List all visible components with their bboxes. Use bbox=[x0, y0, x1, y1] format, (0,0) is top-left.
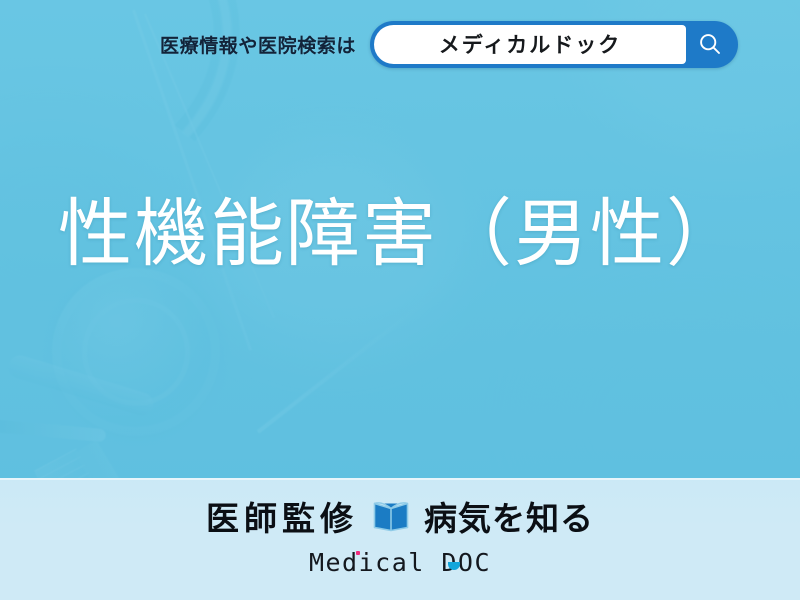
disease-word: 病気 bbox=[424, 500, 492, 537]
footer-band: 医師監修 病気を知る Medical DOC bbox=[0, 478, 800, 600]
search-bar[interactable] bbox=[370, 21, 738, 68]
search-strip: 医療情報や医院検索は bbox=[0, 0, 800, 88]
search-button[interactable] bbox=[686, 25, 734, 64]
doctor-supervised-label: 医師監修 bbox=[206, 492, 358, 540]
footer-headline: 医師監修 病気を知る bbox=[206, 492, 594, 540]
logo-i-dot-icon bbox=[356, 551, 360, 555]
know-your-disease-label: 病気を知る bbox=[424, 492, 594, 540]
search-caption: 医療情報や医院検索は bbox=[160, 31, 356, 58]
know-word: を知る bbox=[492, 500, 594, 537]
search-icon bbox=[697, 31, 723, 57]
brand-logo[interactable]: Medical DOC bbox=[309, 548, 491, 577]
page-root: 医療情報や医院検索は 性機能障害（男性） 医師監修 bbox=[0, 0, 800, 600]
brand-logo-text: Medical DOC bbox=[309, 548, 491, 577]
open-book-icon bbox=[372, 499, 410, 533]
band-divider bbox=[0, 478, 800, 480]
page-title: 性機能障害（男性） bbox=[0, 196, 800, 271]
hero-section: 性機能障害（男性） bbox=[0, 196, 800, 271]
search-input[interactable] bbox=[374, 25, 686, 64]
